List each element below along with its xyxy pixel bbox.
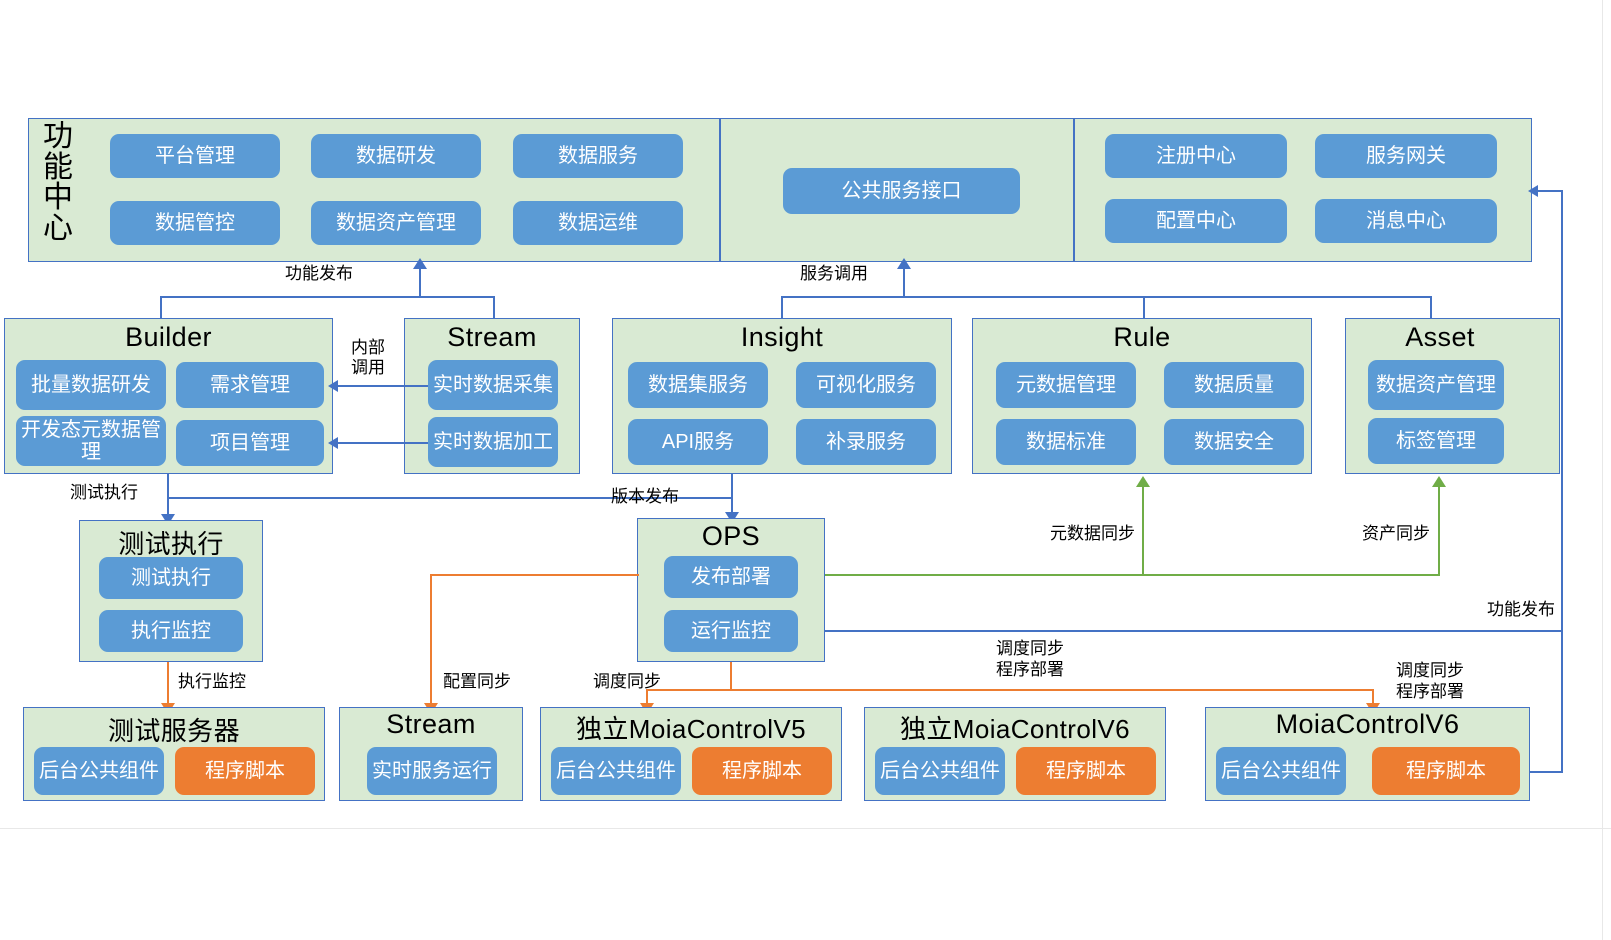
- fc-item-platform-mgmt[interactable]: 平台管理: [110, 134, 280, 178]
- page-rule-bottom: [0, 828, 1611, 829]
- stream-item-realtime-process[interactable]: 实时数据加工: [428, 417, 558, 467]
- arrowhead-asset-sync: [1432, 476, 1446, 487]
- module-ops-title: OPS: [637, 521, 825, 552]
- riser-stream: [493, 296, 495, 318]
- edge-label-internal-call: 内部 调用: [340, 338, 396, 377]
- insight-item-visualization-service[interactable]: 可视化服务: [796, 362, 936, 408]
- riser-builder: [160, 296, 162, 318]
- orange-riser-config-sync: [430, 574, 432, 707]
- insight-item-api-service[interactable]: API服务: [628, 419, 768, 465]
- module-insight-title: Insight: [612, 322, 952, 353]
- test-server-item-backend-common[interactable]: 后台公共组件: [34, 747, 164, 795]
- function-center-label-char-3: 心: [38, 214, 78, 245]
- fc-item-public-service-api[interactable]: 公共服务接口: [783, 168, 1020, 214]
- server-test-server-title: 测试服务器: [23, 711, 325, 748]
- blue-arrow-into-fc: [1537, 190, 1563, 192]
- green-bus-from-ops: [825, 574, 1440, 576]
- moiav6i-item-backend-common[interactable]: 后台公共组件: [875, 747, 1005, 795]
- edge-label-schedule-deploy-1: 调度同步 程序部署: [960, 638, 1100, 681]
- server-independent-moiacontrolv6-title: 独立MoiaControlV6: [864, 709, 1166, 746]
- asset-item-tag-mgmt[interactable]: 标签管理: [1368, 418, 1504, 464]
- ops-item-publish-deploy[interactable]: 发布部署: [664, 556, 798, 598]
- edge-label-feature-publish-top: 功能发布: [285, 264, 353, 284]
- moiav6i-item-script[interactable]: 程序脚本: [1016, 747, 1156, 795]
- function-center-label-char-0: 功: [38, 122, 78, 153]
- blue-bus-ops-right: [825, 630, 1563, 632]
- asset-item-data-asset-mgmt[interactable]: 数据资产管理: [1368, 360, 1504, 410]
- test-server-item-script[interactable]: 程序脚本: [175, 747, 315, 795]
- module-stream-title: Stream: [404, 322, 580, 353]
- insight-item-dataset-service[interactable]: 数据集服务: [628, 362, 768, 408]
- builder-item-project-mgmt[interactable]: 项目管理: [176, 420, 324, 466]
- fc-item-message-center[interactable]: 消息中心: [1315, 199, 1497, 243]
- edge-label-feature-publish-right: 功能发布: [1450, 600, 1555, 620]
- blue-riser-bottom-right: [1561, 630, 1563, 773]
- edge-label-schedule-deploy-2: 调度同步 程序部署: [1360, 660, 1500, 703]
- test-exec-item-exec-monitor[interactable]: 执行监控: [99, 610, 243, 652]
- edge-label-schedule-deploy-2-line2: 程序部署: [1360, 681, 1500, 702]
- edge-label-config-sync: 配置同步: [443, 672, 511, 692]
- riser-feature-publish-main: [419, 268, 421, 297]
- server-stream-title: Stream: [339, 709, 523, 740]
- orange-trunk-ops-down: [730, 662, 732, 691]
- rule-item-data-security[interactable]: 数据安全: [1164, 419, 1304, 465]
- arrowhead-feature-publish: [413, 258, 427, 269]
- insight-item-supplement-service[interactable]: 补录服务: [796, 419, 936, 465]
- server-moiacontrolv5-title: 独立MoiaControlV5: [540, 709, 842, 746]
- architecture-diagram: 功 能 中 心 平台管理 数据研发 数据服务 数据管控 数据资产管理 数据运维 …: [0, 0, 1611, 940]
- function-center-divider-2: [1073, 118, 1075, 262]
- function-center-label-char-2: 中: [38, 183, 78, 214]
- edge-label-metadata-sync: 元数据同步: [1010, 524, 1135, 544]
- internal-call-line-1: [338, 385, 428, 387]
- fc-item-data-dev[interactable]: 数据研发: [311, 134, 481, 178]
- edge-label-schedule-deploy-1-line2: 程序部署: [960, 659, 1100, 680]
- moiav5-item-backend-common[interactable]: 后台公共组件: [551, 747, 681, 795]
- bus-feature-publish: [160, 296, 495, 298]
- module-test-execution-title: 测试执行: [79, 524, 263, 561]
- moiav6-item-backend-common[interactable]: 后台公共组件: [1216, 747, 1346, 795]
- module-asset-title: Asset: [1345, 322, 1535, 353]
- builder-item-batch-data-dev[interactable]: 批量数据研发: [16, 360, 166, 410]
- edge-label-internal-call-line1: 内部: [340, 338, 396, 358]
- arrowhead-internal-call-2: [328, 437, 338, 449]
- orange-bus-config-sync: [430, 574, 639, 576]
- orange-trunk-horizontal: [646, 689, 1374, 691]
- builder-item-requirement-mgmt[interactable]: 需求管理: [176, 362, 324, 408]
- edge-label-asset-sync: 资产同步: [1330, 524, 1430, 544]
- arrowhead-metadata-sync: [1136, 476, 1150, 487]
- edge-label-service-call: 服务调用: [800, 264, 868, 284]
- fc-item-data-asset-mgmt[interactable]: 数据资产管理: [311, 201, 481, 245]
- test-exec-riser: [167, 474, 169, 517]
- ops-item-runtime-monitor[interactable]: 运行监控: [664, 610, 798, 652]
- stream-server-item-realtime-run[interactable]: 实时服务运行: [367, 747, 497, 795]
- function-center-label: 功 能 中 心: [38, 122, 78, 244]
- function-center-divider-1: [719, 118, 721, 262]
- edge-label-test-execute: 测试执行: [70, 483, 138, 503]
- riser-insight: [781, 296, 783, 318]
- module-rule-title: Rule: [972, 322, 1312, 353]
- stream-item-realtime-collect[interactable]: 实时数据采集: [428, 360, 558, 410]
- edge-label-version-publish: 版本发布: [611, 487, 679, 507]
- orange-riser-exec-monitor: [167, 662, 169, 707]
- riser-service-call-main: [903, 268, 905, 297]
- fc-item-config-center[interactable]: 配置中心: [1105, 199, 1287, 243]
- blue-bus-bottom-right: [1530, 771, 1563, 773]
- fc-item-registry-center[interactable]: 注册中心: [1105, 134, 1287, 178]
- fc-item-data-governance[interactable]: 数据管控: [110, 201, 280, 245]
- moiav6-item-script[interactable]: 程序脚本: [1372, 747, 1520, 795]
- bus-version-publish-right: [731, 474, 733, 498]
- function-center-label-char-1: 能: [38, 153, 78, 184]
- builder-item-dev-metadata-mgmt[interactable]: 开发态元数据管理: [16, 416, 166, 466]
- fc-item-data-ops[interactable]: 数据运维: [513, 201, 683, 245]
- moiav5-item-script[interactable]: 程序脚本: [692, 747, 832, 795]
- green-riser-metadata-sync: [1142, 486, 1144, 576]
- module-builder-title: Builder: [4, 322, 333, 353]
- edge-label-schedule-deploy-2-line1: 调度同步: [1360, 660, 1500, 681]
- green-riser-asset-sync: [1438, 486, 1440, 576]
- arrowhead-into-function-center: [1528, 185, 1538, 197]
- rule-item-data-quality[interactable]: 数据质量: [1164, 362, 1304, 408]
- fc-item-service-gateway[interactable]: 服务网关: [1315, 134, 1497, 178]
- page-rule-right: [1602, 0, 1603, 940]
- rule-item-data-standard[interactable]: 数据标准: [996, 419, 1136, 465]
- riser-asset: [1430, 296, 1432, 318]
- edge-label-schedule-deploy-1-line1: 调度同步: [960, 638, 1100, 659]
- edge-label-internal-call-line2: 调用: [340, 358, 396, 378]
- edge-label-exec-monitor: 执行监控: [178, 672, 246, 692]
- blue-riser-right-edge: [1561, 190, 1563, 632]
- fc-item-data-service[interactable]: 数据服务: [513, 134, 683, 178]
- server-moiacontrolv6-title: MoiaControlV6: [1205, 709, 1530, 740]
- riser-rule: [1143, 296, 1145, 318]
- bus-service-call: [781, 296, 1432, 298]
- edge-label-schedule-sync: 调度同步: [593, 672, 661, 692]
- arrowhead-service-call: [897, 258, 911, 269]
- rule-item-metadata-mgmt[interactable]: 元数据管理: [996, 362, 1136, 408]
- test-exec-item-test-execute[interactable]: 测试执行: [99, 557, 243, 599]
- arrowhead-internal-call-1: [328, 380, 338, 392]
- internal-call-line-2: [338, 442, 428, 444]
